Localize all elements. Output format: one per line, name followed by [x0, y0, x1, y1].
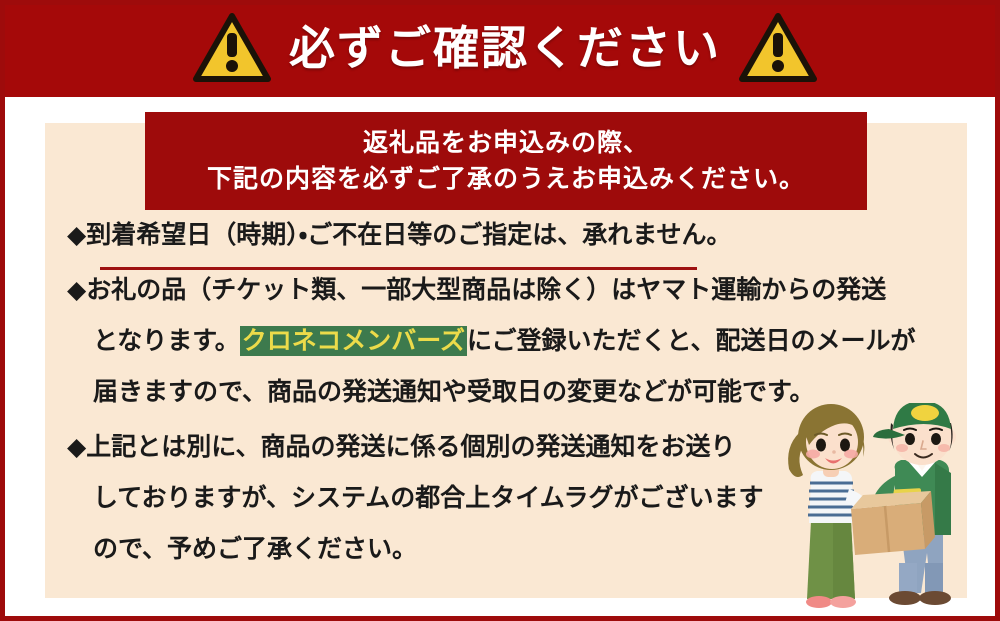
- notice-time-lag-line-3-text: ので、予めご了承ください。: [93, 535, 417, 563]
- warning-triangle-icon: [739, 13, 817, 83]
- notice-yamato-shipping-line-2-post: にご登録いただくと、配送日のメールが: [467, 327, 916, 355]
- notice-yamato-shipping-line-1: ◆お礼の品（チケット類、一部大型商品は除く）はヤマト運輸からの発送: [67, 278, 967, 303]
- warning-triangle-icon: [193, 13, 271, 83]
- sub-banner: 返礼品をお申込みの際、 下記の内容を必ずご了承のうえお申込みください。: [145, 112, 867, 210]
- delivery-handoff-illustration: [775, 403, 1000, 618]
- notice-delivery-date-line-1: ◆到着希望日（時期）・ご不在日等のご指定は、承れません。: [67, 223, 967, 248]
- kuroneko-members-highlight[interactable]: クロネコメンバーズ: [240, 326, 467, 356]
- page-title: 必ずご確認ください: [289, 25, 721, 71]
- sub-banner-line-2: 下記の内容を必ずご了承のうえお申込みください。: [207, 164, 805, 194]
- notice-card: 必ずご確認ください 返礼品をお申込みの際、 下記の内容を必ずご了承のうえお申込み…: [0, 0, 1000, 621]
- notice-underline: [100, 267, 697, 270]
- notice-yamato-shipping-line-3: 届きますので、商品の発送通知や受取日の変更などが可能です。: [67, 380, 967, 405]
- notice-yamato-shipping-line-2: となります。クロネコメンバーズにご登録いただくと、配送日のメールが: [67, 329, 967, 354]
- sub-banner-line-1: 返礼品をお申込みの際、: [363, 128, 649, 158]
- header-band: 必ずご確認ください: [0, 0, 1000, 97]
- notice-yamato-shipping-line-2-pre: となります。: [93, 327, 240, 355]
- notice-time-lag-line-2-text: しておりますが、システムの都合上タイムラグがございます: [93, 484, 764, 512]
- notice-yamato-shipping-line-3-text: 届きますので、商品の発送通知や受取日の変更などが可能です。: [93, 378, 815, 406]
